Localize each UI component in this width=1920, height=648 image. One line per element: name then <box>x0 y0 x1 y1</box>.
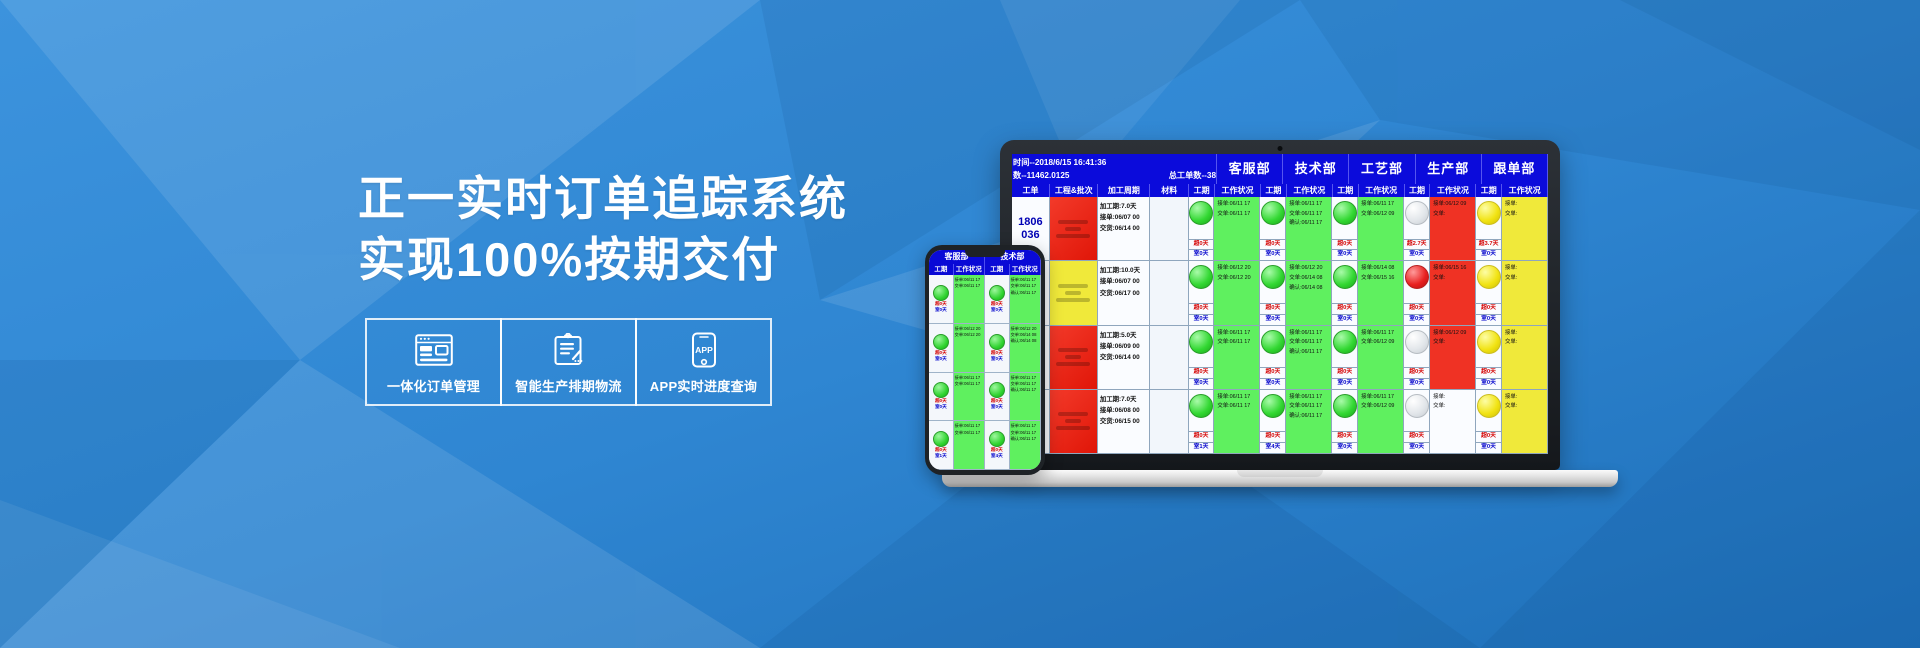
hero-copy: 正一实时订单追踪系统 实现100%按期交付 <box>358 168 918 290</box>
cell-work-status: 接单:06/11 17交单:06/11 17 <box>1214 390 1260 453</box>
status-note: 接单:06/11 17 <box>955 423 983 429</box>
remaining-tag: 室0天 <box>935 404 947 410</box>
remaining-tag: 室4天 <box>1260 442 1285 453</box>
remaining-tag: 室0天 <box>1476 249 1501 260</box>
table-meta-info: 时间-- 2018/6/15 16:41:36 数-- 11462.0125 总… <box>1012 154 1217 184</box>
duration-tags: 超0天室0天 <box>1189 367 1214 389</box>
status-note: 交单:06/11 17 <box>1216 402 1257 412</box>
status-note: 交单:06/11 17 <box>1288 210 1329 220</box>
phone-cell-te-duration: 超0天室0天 <box>985 324 1010 372</box>
status-note: 交单:06/12 09 <box>1360 210 1401 220</box>
col-process-cycle: 加工周期 <box>1098 184 1150 197</box>
status-note: 接单:06/12 20 <box>1216 264 1257 274</box>
cycle-line: 交货:06/15 00 <box>1100 416 1147 427</box>
cell-work-status: 接单:交单: <box>1430 390 1476 453</box>
cell-duration: 超3.7天室0天 <box>1476 197 1502 260</box>
status-note: 接单:06/14 08 <box>1360 264 1401 274</box>
duration-tags: 超0天室0天 <box>1476 431 1501 453</box>
status-note: 接单:06/11 17 <box>1360 329 1401 339</box>
remaining-tag: 室1天 <box>935 453 947 459</box>
status-dot-green <box>1189 394 1213 418</box>
phone-row[interactable]: 超0天室0天接单:06/11 17交单:06/11 17超0天室0天接单:06/… <box>929 275 1041 324</box>
phone-cell-cs-duration: 超0天室0天 <box>929 373 954 421</box>
cycle-line: 加工期:10.0天 <box>1100 265 1147 276</box>
overdue-tag: 超2.7天 <box>1404 239 1429 250</box>
cycle-line: 交货:06/14 00 <box>1100 223 1147 234</box>
cycle-line: 加工期:7.0天 <box>1100 201 1147 212</box>
cell-duration: 超0天室0天 <box>1404 390 1430 453</box>
overdue-tag: 超0天 <box>1260 303 1285 314</box>
feature-box-production-schedule[interactable]: 智能生产排期物流 <box>500 318 637 406</box>
phone-row-list: 超0天室0天接单:06/11 17交单:06/11 17超0天室0天接单:06/… <box>929 275 1041 470</box>
duration-tags: 超0天室0天 <box>1189 239 1214 261</box>
meta-total-value: 38 <box>1207 170 1216 183</box>
cell-duration: 超0天室0天 <box>1404 326 1430 389</box>
duration-tags: 超0天室1天 <box>1189 431 1214 453</box>
phone-cell-cs-status: 接单:06/11 17交单:06/11 17 <box>954 421 985 469</box>
meta-time-label: 时间-- <box>1013 157 1035 170</box>
status-note: 确认:06/11 17 <box>1288 348 1329 358</box>
cell-work-status: 接单:06/11 17交单:06/11 17 <box>1214 197 1260 260</box>
phone-cell-cs-status: 接单:06/11 17交单:06/11 17 <box>954 373 985 421</box>
status-note: 确认:06/14 08 <box>1288 284 1329 294</box>
status-note: 交单:06/11 17 <box>955 381 983 387</box>
status-note: 接单:06/11 17 <box>1288 393 1329 403</box>
overdue-tag: 超0天 <box>1260 239 1285 250</box>
remaining-tag: 室0天 <box>1260 378 1285 389</box>
remaining-tag: 室0天 <box>1476 378 1501 389</box>
phone-cell-te-duration: 超0天室4天 <box>985 421 1010 469</box>
status-dot-green <box>1189 265 1213 289</box>
feature-box-app-progress[interactable]: APP APP实时进度查询 <box>635 318 772 406</box>
status-note: 交单: <box>1504 338 1545 348</box>
remaining-tag: 室0天 <box>1404 442 1429 453</box>
order-tracking-table: 时间-- 2018/6/15 16:41:36 数-- 11462.0125 总… <box>1012 154 1548 454</box>
overdue-tag: 超0天 <box>1404 367 1429 378</box>
remaining-tag: 室0天 <box>1404 249 1429 260</box>
cell-project-batch <box>1050 197 1098 260</box>
mobile-app-icon: APP <box>691 330 717 370</box>
overdue-tag: 超0天 <box>1260 431 1285 442</box>
cell-project-batch <box>1050 261 1098 324</box>
headline-line-2: 实现100%按期交付 <box>358 229 918 290</box>
col-material: 材料 <box>1150 184 1189 197</box>
status-note: 接单:06/11 17 <box>1216 393 1257 403</box>
cell-material <box>1150 261 1189 324</box>
overdue-tag: 超0天 <box>1404 431 1429 442</box>
col-work-status: 工作状况 <box>1359 184 1405 197</box>
duration-tags: 超0天室4天 <box>1260 431 1285 453</box>
status-note: 接单:06/11 17 <box>1288 329 1329 339</box>
cycle-line: 加工期:5.0天 <box>1100 330 1147 341</box>
status-dot-green <box>1261 330 1285 354</box>
status-dot-green <box>989 431 1005 447</box>
status-note: 交单:06/14 08 <box>1288 274 1329 284</box>
phone-subcolumn-header: 工期 工作状况 工期 工作状况 <box>929 264 1041 275</box>
table-column-header: 工单工程&批次加工周期材料工期工作状况工期工作状况工期工作状况工期工作状况工期工… <box>1012 184 1548 197</box>
cell-work-status: 接单:06/11 17交单:06/11 17 <box>1214 326 1260 389</box>
cycle-line: 加工期:7.0天 <box>1100 394 1147 405</box>
cell-duration: 超0天室0天 <box>1476 390 1502 453</box>
status-note: 交单:06/12 20 <box>1216 274 1257 284</box>
remaining-tag: 室0天 <box>991 356 1003 362</box>
cell-material <box>1150 197 1189 260</box>
status-dot-green <box>1333 265 1357 289</box>
status-dot-green <box>989 382 1005 398</box>
status-note: 交单: <box>1504 402 1545 412</box>
remaining-tag: 室0天 <box>1476 442 1501 453</box>
remaining-tag: 室0天 <box>1189 249 1214 260</box>
col-work-status: 工作状况 <box>1287 184 1333 197</box>
duration-tags: 超0天室0天 <box>1476 367 1501 389</box>
duration-tags: 超3.7天室0天 <box>1476 239 1501 261</box>
col-work-status: 工作状况 <box>1430 184 1476 197</box>
col-work-status: 工作状况 <box>1215 184 1261 197</box>
meta-count-value: 11462.0125 <box>1027 170 1070 183</box>
cell-work-status: 接单:交单: <box>1502 197 1548 260</box>
cycle-line: 交货:06/14 00 <box>1100 352 1147 363</box>
status-dot-green <box>1189 330 1213 354</box>
dashboard-window-icon <box>415 330 453 370</box>
status-note: 接单:06/11 17 <box>1360 393 1401 403</box>
phone-col-duration: 工期 <box>985 264 1010 275</box>
overdue-tag: 超0天 <box>1404 303 1429 314</box>
laptop-mockup: 时间-- 2018/6/15 16:41:36 数-- 11462.0125 总… <box>1000 140 1618 487</box>
status-dot-green <box>1333 330 1357 354</box>
table-row[interactable]: 1806036加工期:7.0天接单:06/07 00交货:06/14 00超0天… <box>1012 197 1548 261</box>
status-dot-green <box>989 285 1005 301</box>
status-note: 交单: <box>1432 402 1473 412</box>
phone-col-duration: 工期 <box>929 264 954 275</box>
cell-process-cycle: 加工期:7.0天接单:06/08 00交货:06/15 00 <box>1098 390 1150 453</box>
duration-tags: 超0天室0天 <box>1260 303 1285 325</box>
cell-duration: 超0天室0天 <box>1332 197 1358 260</box>
dept-header-process: 工艺部 <box>1349 154 1415 184</box>
status-note: 确认:06/11 17 <box>1011 436 1039 442</box>
status-note: 交单:06/11 17 <box>1288 338 1329 348</box>
cell-work-status: 接单:06/12 09交单: <box>1430 197 1476 260</box>
status-dot-yellow <box>1477 330 1501 354</box>
status-note: 接单: <box>1504 393 1545 403</box>
status-note: 交单:06/11 17 <box>1011 430 1039 436</box>
cell-project-batch <box>1050 326 1098 389</box>
cell-duration: 超0天室4天 <box>1260 390 1286 453</box>
col-work-status: 工作状况 <box>1502 184 1548 197</box>
phone-mockup: 客服部 技术部 工期 工作状况 工期 工作状况 超0天室0天接单:06/11 1… <box>925 245 1045 475</box>
duration-tags: 超0天室0天 <box>1260 367 1285 389</box>
overdue-tag: 超0天 <box>1189 239 1214 250</box>
status-dot-green <box>1333 201 1357 225</box>
remaining-tag: 室0天 <box>1260 314 1285 325</box>
overdue-tag: 超0天 <box>1260 367 1285 378</box>
cell-work-status: 接单:交单: <box>1502 261 1548 324</box>
status-dot-green <box>1261 394 1285 418</box>
duration-tags: 超0天室0天 <box>1332 303 1357 325</box>
status-note: 确认:06/11 17 <box>1011 387 1039 393</box>
remaining-tag: 室0天 <box>1332 249 1357 260</box>
status-dot-yellow <box>1477 201 1501 225</box>
cell-work-status: 接单:交单: <box>1502 390 1548 453</box>
overdue-tag: 超0天 <box>1476 303 1501 314</box>
overdue-tag: 超0天 <box>1189 431 1214 442</box>
phone-cell-cs-status: 接单:06/11 17交单:06/11 17 <box>954 275 985 323</box>
status-note: 接单:06/11 17 <box>955 375 983 381</box>
duration-tags: 超2.7天室0天 <box>1404 239 1429 261</box>
remaining-tag: 室0天 <box>1332 314 1357 325</box>
status-note: 接单:06/11 17 <box>1360 200 1401 210</box>
cell-work-status: 接单:06/11 17交单:06/11 17确认:06/11 17 <box>1286 197 1332 260</box>
remaining-tag: 室1天 <box>1189 442 1214 453</box>
cycle-line: 交货:06/17 00 <box>1100 288 1147 299</box>
status-dot-green <box>1189 201 1213 225</box>
cell-duration: 超0天室0天 <box>1476 261 1502 324</box>
dept-header-production: 生产部 <box>1416 154 1482 184</box>
duration-tags: 超0天室0天 <box>1404 303 1429 325</box>
overdue-tag: 超0天 <box>1332 367 1357 378</box>
cell-duration: 超0天室0天 <box>1404 261 1430 324</box>
phone-col-status: 工作状况 <box>954 264 985 275</box>
status-dot-green <box>1333 394 1357 418</box>
table-row[interactable]: 1806038加工期:10.0天接单:06/07 00交货:06/17 00超0… <box>1012 261 1548 325</box>
remaining-tag: 室0天 <box>1476 314 1501 325</box>
status-note: 接单:06/11 17 <box>1011 423 1039 429</box>
feature-label: 一体化订单管理 <box>387 376 480 395</box>
feature-box-list: 一体化订单管理 智能生产排期物流 APP <box>365 318 770 406</box>
overdue-tag: 超0天 <box>1189 303 1214 314</box>
cell-work-status: 接单:06/11 17交单:06/11 17确认:06/11 17 <box>1286 326 1332 389</box>
col-duration: 工期 <box>1476 184 1502 197</box>
status-note: 交单: <box>1504 274 1545 284</box>
table-row[interactable]: 1806039加工期:5.0天接单:06/09 00交货:06/14 00超0天… <box>1012 326 1548 390</box>
cell-work-status: 接单:06/11 17交单:06/12 09 <box>1358 390 1404 453</box>
headline-line-1: 正一实时订单追踪系统 <box>358 168 918 229</box>
status-note: 接单: <box>1504 264 1545 274</box>
status-dot-white <box>1405 330 1429 354</box>
overdue-tag: 超3.7天 <box>1476 239 1501 250</box>
cell-work-status: 接单:06/15 16交单: <box>1430 261 1476 324</box>
cycle-line: 接单:06/07 00 <box>1100 276 1147 287</box>
remaining-tag: 室0天 <box>991 404 1003 410</box>
cell-work-status: 接单:06/12 09交单: <box>1430 326 1476 389</box>
status-note: 交单:06/11 17 <box>955 430 983 436</box>
status-dot-green <box>989 334 1005 350</box>
status-note: 交单: <box>1432 274 1473 284</box>
phone-row[interactable]: 超0天室1天接单:06/11 17交单:06/11 17超0天室4天接单:06/… <box>929 421 1041 470</box>
dept-header-technical: 技术部 <box>1283 154 1349 184</box>
status-note: 交单: <box>1432 210 1473 220</box>
cell-duration: 超0天室0天 <box>1332 390 1358 453</box>
status-note: 交单:06/15 16 <box>1360 274 1401 284</box>
cell-duration: 超0天室0天 <box>1189 326 1215 389</box>
cell-duration: 超2.7天室0天 <box>1404 197 1430 260</box>
overdue-tag: 超0天 <box>1332 431 1357 442</box>
status-dot-green <box>933 382 949 398</box>
status-dot-yellow <box>1477 265 1501 289</box>
meta-total-label: 总工单数-- <box>1169 170 1207 183</box>
status-dot-white <box>1405 201 1429 225</box>
remaining-tag: 室4天 <box>991 453 1003 459</box>
col-duration: 工期 <box>1333 184 1359 197</box>
status-note: 接单:06/12 09 <box>1432 200 1473 210</box>
table-row[interactable]: 1806040加工期:7.0天接单:06/08 00交货:06/15 00超0天… <box>1012 390 1548 454</box>
clipboard-checklist-icon <box>553 330 585 370</box>
cell-work-status: 接单:06/12 20交单:06/12 20 <box>1214 261 1260 324</box>
phone-screen[interactable]: 客服部 技术部 工期 工作状况 工期 工作状况 超0天室0天接单:06/11 1… <box>929 250 1041 470</box>
cell-duration: 超0天室0天 <box>1332 261 1358 324</box>
status-note: 接单:06/15 16 <box>1432 264 1473 274</box>
phone-cell-cs-duration: 超0天室1天 <box>929 421 954 469</box>
duration-tags: 超0天室0天 <box>1332 367 1357 389</box>
overdue-tag: 超0天 <box>1189 367 1214 378</box>
status-note: 接单:06/11 17 <box>1288 200 1329 210</box>
status-note: 确认:06/11 17 <box>1011 290 1039 296</box>
cell-material <box>1150 390 1189 453</box>
cycle-line: 接单:06/09 00 <box>1100 341 1147 352</box>
remaining-tag: 室0天 <box>991 307 1003 313</box>
status-note: 确认:06/14 08 <box>1011 338 1039 344</box>
overdue-tag: 超0天 <box>1476 431 1501 442</box>
phone-col-status: 工作状况 <box>1010 264 1041 275</box>
status-note: 确认:06/11 17 <box>1288 219 1329 229</box>
duration-tags: 超0天室0天 <box>1404 367 1429 389</box>
cell-duration: 超0天室0天 <box>1189 197 1215 260</box>
status-dot-green <box>933 334 949 350</box>
remaining-tag: 室0天 <box>1189 378 1214 389</box>
remaining-tag: 室0天 <box>1404 314 1429 325</box>
status-note: 接单:06/12 20 <box>1288 264 1329 274</box>
cell-process-cycle: 加工期:10.0天接单:06/07 00交货:06/17 00 <box>1098 261 1150 324</box>
cell-work-status: 接单:06/11 17交单:06/11 17确认:06/11 17 <box>1286 390 1332 453</box>
cell-work-status: 接单:交单: <box>1502 326 1548 389</box>
phone-cell-te-duration: 超0天室0天 <box>985 373 1010 421</box>
status-note: 交单:06/11 17 <box>1216 210 1257 220</box>
cell-duration: 超0天室0天 <box>1260 197 1286 260</box>
cell-work-status: 接单:06/11 17交单:06/12 09 <box>1358 197 1404 260</box>
status-note: 交单:06/12 09 <box>1360 402 1401 412</box>
overdue-tag: 超0天 <box>1332 303 1357 314</box>
status-note: 接单:06/11 17 <box>1216 200 1257 210</box>
cell-material <box>1150 326 1189 389</box>
cell-process-cycle: 加工期:5.0天接单:06/09 00交货:06/14 00 <box>1098 326 1150 389</box>
status-note: 接单: <box>1432 393 1473 403</box>
col-duration: 工期 <box>1189 184 1215 197</box>
remaining-tag: 室0天 <box>1332 378 1357 389</box>
status-note: 交单:06/11 17 <box>1288 402 1329 412</box>
status-dot-green <box>1261 265 1285 289</box>
phone-cell-te-status: 接单:06/11 17交单:06/11 17确认:06/11 17 <box>1010 275 1041 323</box>
status-note: 接单:06/12 09 <box>1432 329 1473 339</box>
meta-time-value: 2018/6/15 16:41:36 <box>1035 157 1106 170</box>
remaining-tag: 室0天 <box>1260 249 1285 260</box>
status-note: 交单: <box>1504 210 1545 220</box>
cell-project-batch <box>1050 390 1098 453</box>
duration-tags: 超0天室0天 <box>1332 431 1357 453</box>
status-dot-green <box>933 285 949 301</box>
table-body: 1806036加工期:7.0天接单:06/07 00交货:06/14 00超0天… <box>1012 197 1548 454</box>
duration-tags: 超0天室0天 <box>1404 431 1429 453</box>
laptop-camera-icon <box>1278 146 1283 151</box>
cycle-line: 接单:06/08 00 <box>1100 405 1147 416</box>
col-duration: 工期 <box>1405 184 1431 197</box>
phone-cell-te-duration: 超0天室0天 <box>985 275 1010 323</box>
cell-duration: 超0天室0天 <box>1260 261 1286 324</box>
feature-label: APP实时进度查询 <box>650 376 757 395</box>
phone-row[interactable]: 超0天室0天接单:06/12 20交单:06/12 20超0天室0天接单:06/… <box>929 324 1041 373</box>
dept-header-order-follow: 跟单部 <box>1482 154 1548 184</box>
remaining-tag: 室0天 <box>935 356 947 362</box>
status-note: 接单: <box>1504 329 1545 339</box>
status-dot-green <box>1261 201 1285 225</box>
status-note: 交单:06/11 17 <box>1216 338 1257 348</box>
status-note: 确认:06/11 17 <box>1288 412 1329 422</box>
phone-notch <box>965 250 1005 257</box>
cell-work-status: 接单:06/11 17交单:06/12 09 <box>1358 326 1404 389</box>
status-note: 交单:06/12 09 <box>1360 338 1401 348</box>
remaining-tag: 室0天 <box>1189 314 1214 325</box>
phone-cell-cs-duration: 超0天室0天 <box>929 275 954 323</box>
phone-cell-cs-status: 接单:06/12 20交单:06/12 20 <box>954 324 985 372</box>
status-note: 接单:06/11 17 <box>1216 329 1257 339</box>
status-dot-red <box>1405 265 1429 289</box>
status-note: 交单:06/11 17 <box>1011 283 1039 289</box>
phone-cell-te-status: 接单:06/11 17交单:06/11 17确认:06/11 17 <box>1010 373 1041 421</box>
cell-duration: 超0天室0天 <box>1476 326 1502 389</box>
status-note: 接单:06/11 17 <box>1011 375 1039 381</box>
cell-process-cycle: 加工期:7.0天接单:06/07 00交货:06/14 00 <box>1098 197 1150 260</box>
overdue-tag: 超0天 <box>1476 367 1501 378</box>
phone-body: 客服部 技术部 工期 工作状况 工期 工作状况 超0天室0天接单:06/11 1… <box>925 245 1045 475</box>
col-work-order: 工单 <box>1012 184 1050 197</box>
cycle-line: 接单:06/07 00 <box>1100 212 1147 223</box>
status-dot-white <box>1405 394 1429 418</box>
phone-cell-te-status: 接单:06/12 20交单:06/14 08确认:06/14 08 <box>1010 324 1041 372</box>
status-dot-green <box>933 431 949 447</box>
status-note: 接单: <box>1504 200 1545 210</box>
col-project-batch: 工程&批次 <box>1050 184 1098 197</box>
cell-duration: 超0天室0天 <box>1189 261 1215 324</box>
cell-duration: 超0天室0天 <box>1332 326 1358 389</box>
duration-tags: 超0天室0天 <box>1476 303 1501 325</box>
dept-header-customer-service: 客服部 <box>1217 154 1283 184</box>
duration-tags: 超0天室0天 <box>1189 303 1214 325</box>
remaining-tag: 室0天 <box>935 307 947 313</box>
cell-duration: 超0天室1天 <box>1189 390 1215 453</box>
app-badge-text: APP <box>695 345 713 355</box>
phone-cell-cs-duration: 超0天室0天 <box>929 324 954 372</box>
cell-work-status: 接单:06/12 20交单:06/14 08确认:06/14 08 <box>1286 261 1332 324</box>
col-duration: 工期 <box>1261 184 1287 197</box>
feature-label: 智能生产排期物流 <box>515 376 621 395</box>
meta-count-label: 数-- <box>1013 170 1027 183</box>
duration-tags: 超0天室0天 <box>1332 239 1357 261</box>
table-department-header: 时间-- 2018/6/15 16:41:36 数-- 11462.0125 总… <box>1012 154 1548 184</box>
duration-tags: 超0天室0天 <box>1260 239 1285 261</box>
cell-work-status: 接单:06/14 08交单:06/15 16 <box>1358 261 1404 324</box>
overdue-tag: 超0天 <box>1332 239 1357 250</box>
status-note: 交单: <box>1432 338 1473 348</box>
status-note: 交单:06/12 20 <box>955 332 983 338</box>
phone-row[interactable]: 超0天室0天接单:06/11 17交单:06/11 17超0天室0天接单:06/… <box>929 373 1041 422</box>
laptop-lid: 时间-- 2018/6/15 16:41:36 数-- 11462.0125 总… <box>1000 140 1560 470</box>
remaining-tag: 室0天 <box>1404 378 1429 389</box>
phone-cell-te-status: 接单:06/11 17交单:06/11 17确认:06/11 17 <box>1010 421 1041 469</box>
cell-duration: 超0天室0天 <box>1260 326 1286 389</box>
status-note: 交单:06/11 17 <box>955 283 983 289</box>
laptop-screen[interactable]: 时间-- 2018/6/15 16:41:36 数-- 11462.0125 总… <box>1012 154 1548 454</box>
remaining-tag: 室0天 <box>1332 442 1357 453</box>
feature-box-order-management[interactable]: 一体化订单管理 <box>365 318 502 406</box>
status-dot-yellow <box>1477 394 1501 418</box>
